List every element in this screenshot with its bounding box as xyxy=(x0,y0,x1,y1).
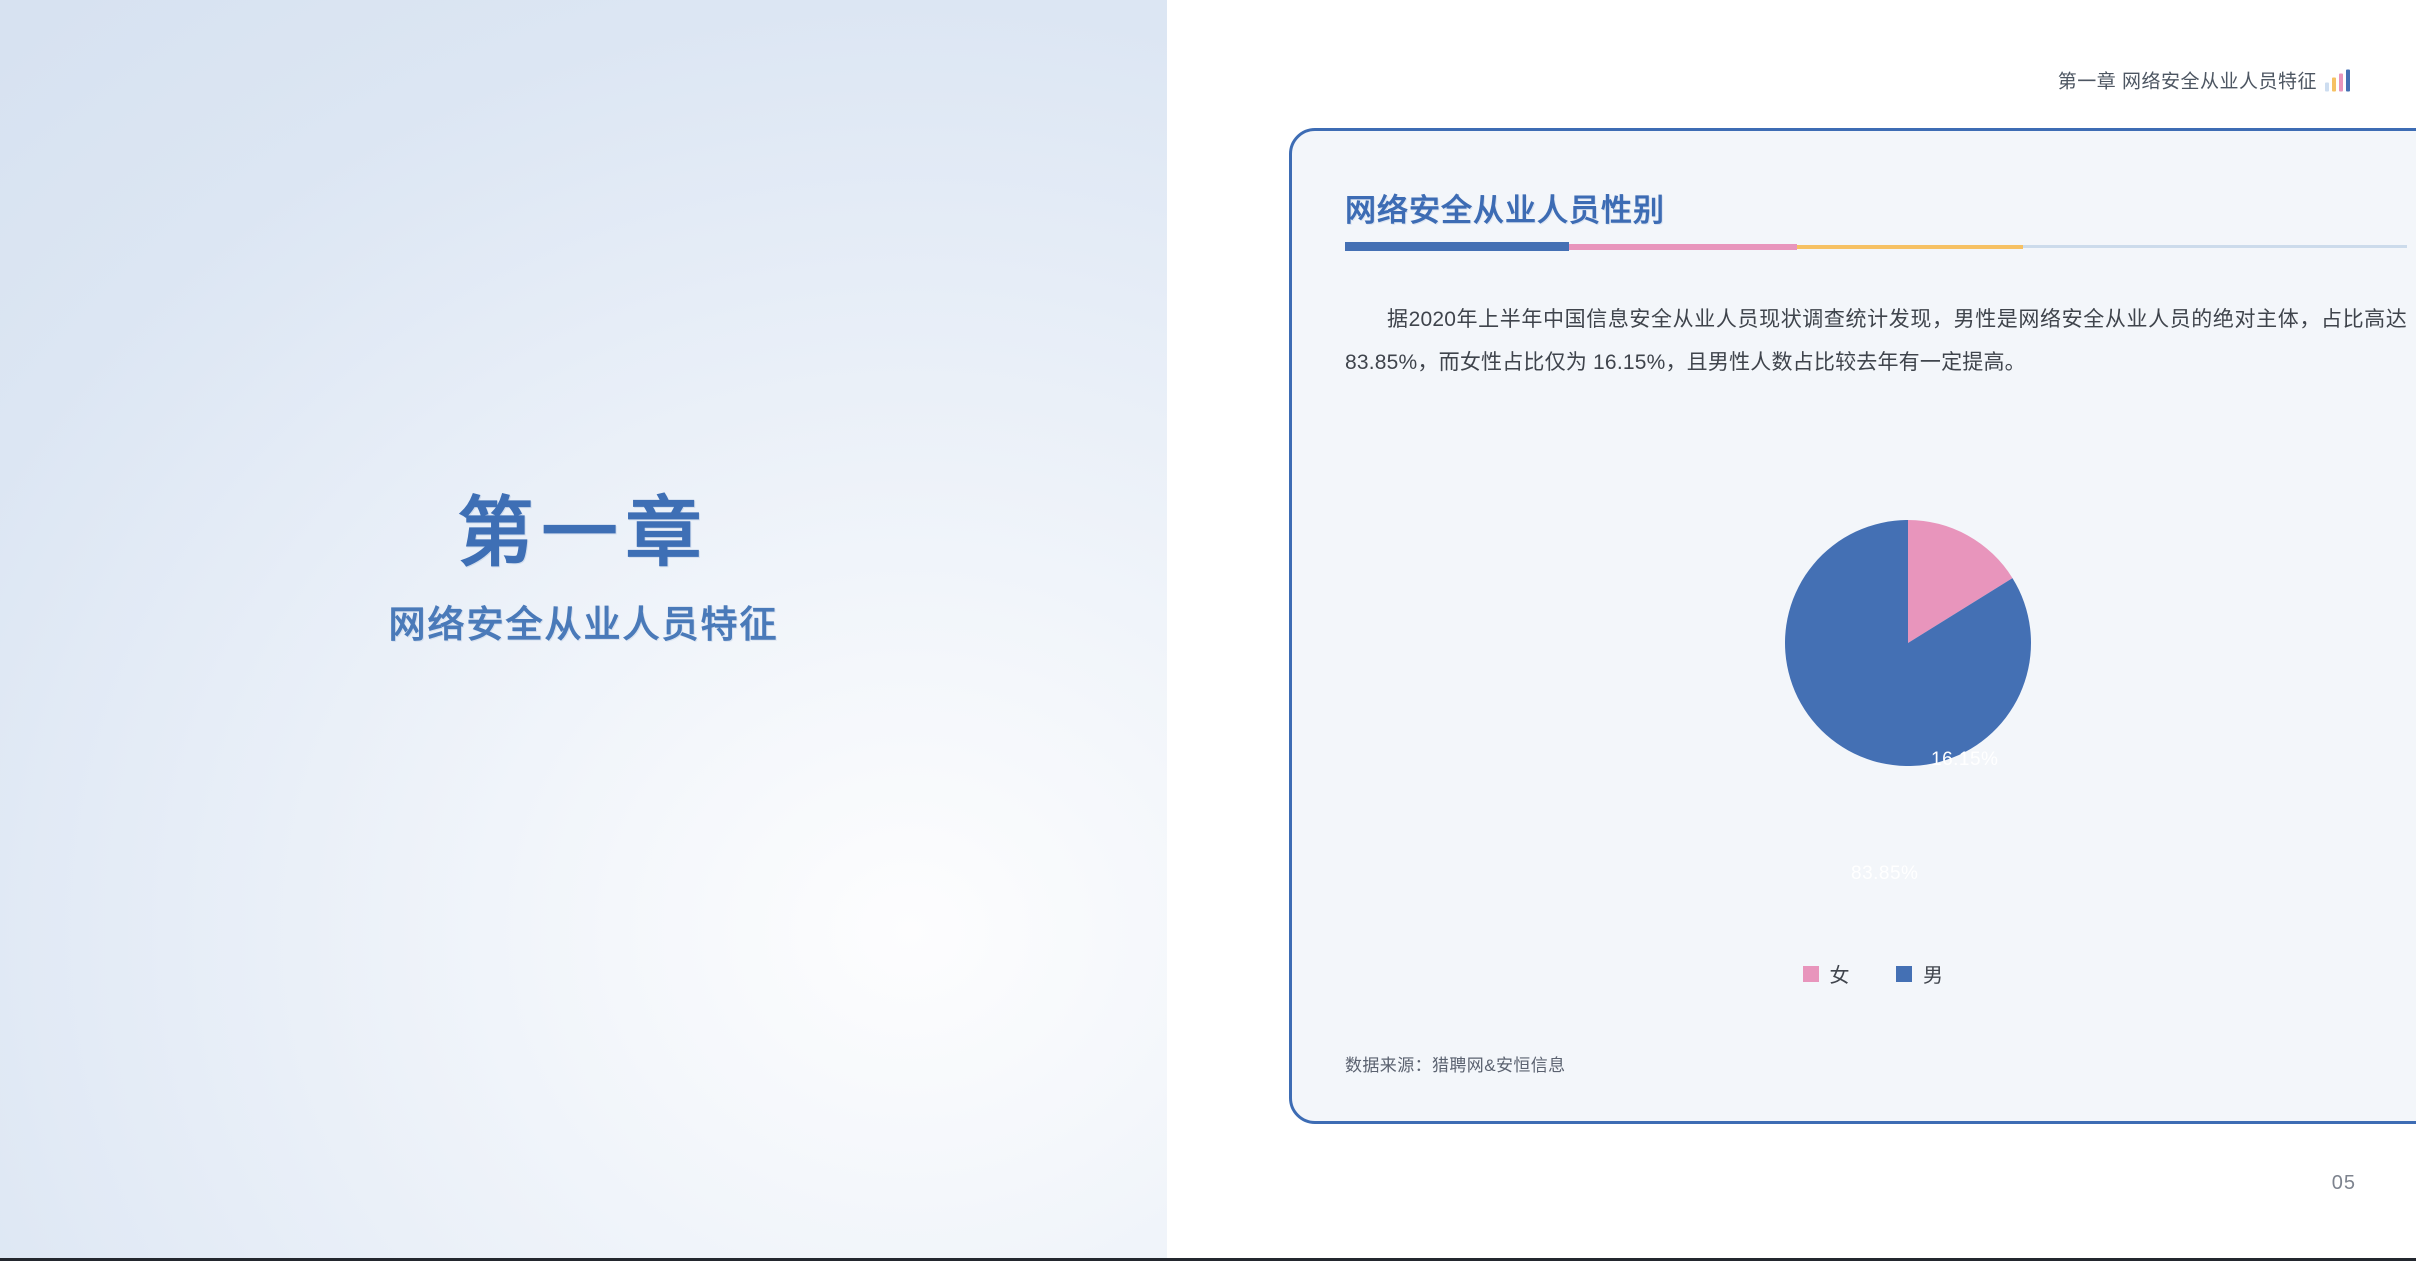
legend-swatch-female xyxy=(1803,966,1819,982)
running-header-title: 第一章 网络安全从业人员特征 xyxy=(2058,67,2317,94)
card-title: 网络安全从业人员性别 xyxy=(1345,185,1665,230)
pie-label-male: 83.85% xyxy=(1851,863,1918,885)
legend-swatch-male xyxy=(1896,966,1912,982)
content-page: 第一章 网络安全从业人员特征 网络安全从业人员性别 据2020年上半年中国信息安… xyxy=(1167,0,2416,1258)
viewport-bottom-rule xyxy=(0,1258,2416,1261)
chapter-title-block: 第一章 网络安全从业人员特征 xyxy=(0,490,1167,648)
legend-item-male[interactable]: 男 xyxy=(1896,959,1944,988)
pie-graphic xyxy=(1785,520,2031,766)
slide-page: 第一章 网络安全从业人员特征 第一章 网络安全从业人员特征 网络安全从业人员性别… xyxy=(0,0,2416,1266)
data-source-note: 数据来源：猎聘网&安恒信息 xyxy=(1345,1051,1566,1076)
bar-chart-icon xyxy=(2325,69,2350,91)
pie-chart: 16.15% 83.85% 女 男 xyxy=(1292,511,2416,841)
chapter-subtitle: 网络安全从业人员特征 xyxy=(0,603,1167,647)
chapter-number: 第一章 xyxy=(0,490,1167,577)
running-header: 第一章 网络安全从业人员特征 xyxy=(2058,67,2350,94)
chapter-cover-panel: 第一章 网络安全从业人员特征 xyxy=(0,0,1167,1258)
card-paragraph: 据2020年上半年中国信息安全从业人员现状调查统计发现，男性是网络安全从业人员的… xyxy=(1345,298,2407,384)
divider-segment-yellow xyxy=(1797,245,2023,249)
divider-segment-grey xyxy=(2023,245,2407,248)
divider-segment-pink xyxy=(1569,244,1797,250)
legend-label-female: 女 xyxy=(1830,959,1851,988)
page-number: 05 xyxy=(2332,1172,2356,1195)
pie-label-female: 16.15% xyxy=(1931,749,1998,771)
pie-legend: 女 男 xyxy=(1292,959,2416,988)
legend-label-male: 男 xyxy=(1923,959,1944,988)
pie-svg xyxy=(1785,520,2031,766)
divider-segment-blue xyxy=(1345,242,1569,251)
chart-card: 网络安全从业人员性别 据2020年上半年中国信息安全从业人员现状调查统计发现，男… xyxy=(1289,128,2416,1124)
legend-item-female[interactable]: 女 xyxy=(1803,959,1851,988)
title-divider xyxy=(1345,242,2407,251)
